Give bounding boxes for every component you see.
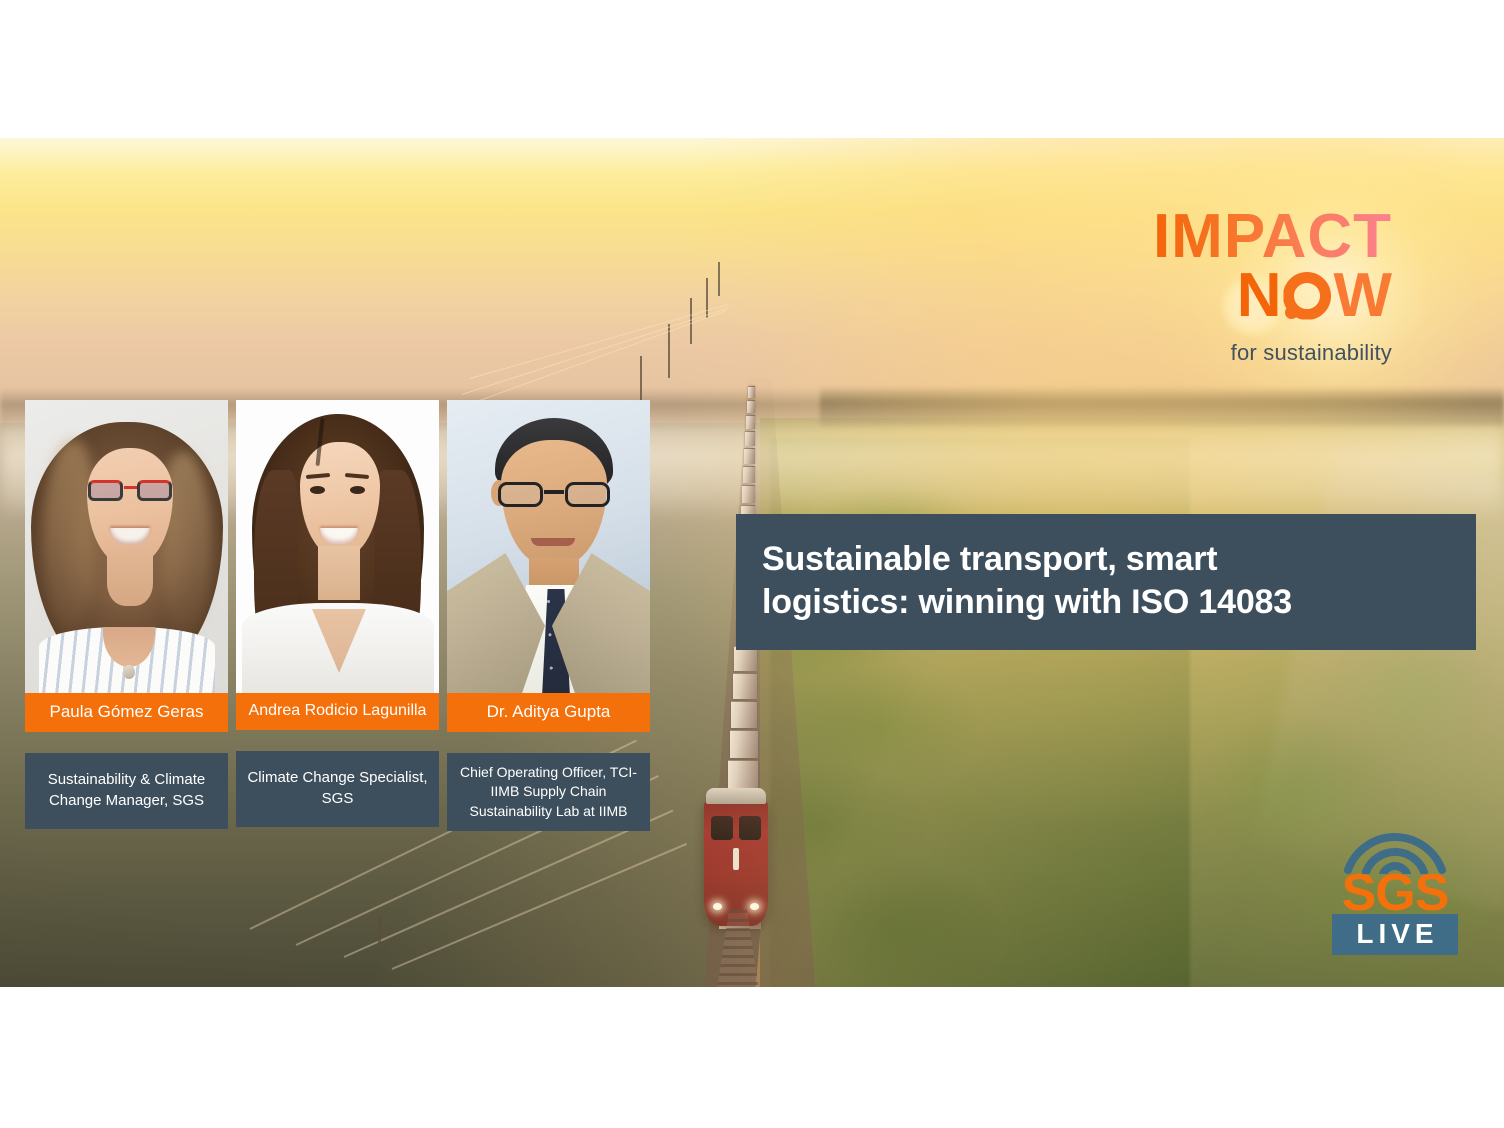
card-gap bbox=[236, 730, 439, 751]
utility-pole bbox=[706, 278, 708, 318]
portrait-andrea-rodicio-lagunilla bbox=[236, 400, 439, 693]
speaker-name: Andrea Rodicio Lagunilla bbox=[236, 693, 439, 730]
speaker-photo bbox=[236, 400, 439, 693]
title-line-1: Sustainable transport, smart bbox=[762, 538, 1450, 581]
portrait-paula-gomez-geras bbox=[25, 400, 228, 693]
speaker-card: Dr. Aditya Gupta Chief Operating Officer… bbox=[447, 400, 650, 831]
field-post bbox=[378, 916, 381, 946]
title-line-2: logistics: winning with ISO 14083 bbox=[762, 581, 1450, 624]
webinar-title-banner: Sustainable transport, smart logistics: … bbox=[736, 514, 1476, 650]
impact-now-logo: IMPACT N W for sustainability bbox=[1153, 208, 1392, 366]
headlight-icon bbox=[750, 903, 759, 910]
speaker-card: Paula Gómez Geras Sustainability & Clima… bbox=[25, 400, 228, 831]
logo-now-letter-w: W bbox=[1333, 267, 1392, 324]
stylized-o-icon bbox=[1283, 272, 1331, 320]
headlight-icon bbox=[713, 903, 722, 910]
logo-now-letter-n: N bbox=[1237, 267, 1282, 324]
sgs-live-logo: SGS LIVE bbox=[1332, 830, 1458, 955]
card-gap bbox=[25, 732, 228, 753]
portrait-aditya-gupta bbox=[447, 400, 650, 693]
speaker-role: Climate Change Specialist, SGS bbox=[236, 751, 439, 827]
speaker-role: Chief Operating Officer, TCI-IIMB Supply… bbox=[447, 753, 650, 831]
speaker-name: Paula Gómez Geras bbox=[25, 693, 228, 732]
speaker-role: Sustainability & Climate Change Manager,… bbox=[25, 753, 228, 829]
eyeglasses-icon bbox=[86, 480, 174, 502]
logo-impact-text: IMPACT bbox=[1153, 208, 1392, 265]
locomotive-icon bbox=[704, 798, 768, 926]
utility-pole bbox=[718, 262, 720, 296]
utility-pole bbox=[690, 298, 692, 344]
speaker-photo bbox=[447, 400, 650, 693]
speaker-card: Andrea Rodicio Lagunilla Climate Change … bbox=[236, 400, 439, 831]
speaker-panel: Paula Gómez Geras Sustainability & Clima… bbox=[25, 400, 650, 831]
eyeglasses-icon bbox=[497, 482, 611, 508]
slide-page: IMPACT N W for sustainability bbox=[0, 0, 1504, 1128]
speaker-name: Dr. Aditya Gupta bbox=[447, 693, 650, 732]
sgs-wordmark: SGS bbox=[1332, 870, 1458, 918]
speaker-photo bbox=[25, 400, 228, 693]
card-gap bbox=[447, 732, 650, 753]
logo-now-row: N W bbox=[1153, 267, 1392, 324]
webinar-slide: IMPACT N W for sustainability bbox=[0, 138, 1504, 987]
logo-tagline: for sustainability bbox=[1153, 340, 1392, 366]
railway-with-freight-train bbox=[660, 378, 860, 987]
